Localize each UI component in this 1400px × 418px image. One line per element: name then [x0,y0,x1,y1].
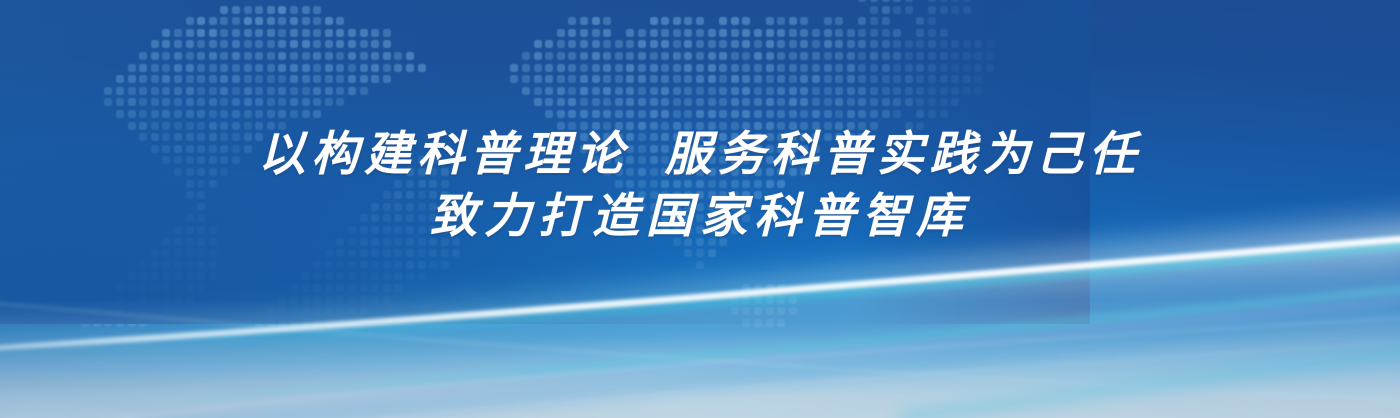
map-dot [603,168,611,176]
map-dot [916,87,924,95]
map-dot [928,0,936,2]
map-dot [220,87,228,95]
map-dot [650,180,658,188]
map-dot [870,52,878,60]
map-dot [429,203,437,211]
map-dot [255,319,263,327]
map-dot [777,110,785,118]
map-dot [638,156,646,164]
map-dot [186,168,194,176]
map-dot [847,122,855,130]
map-dot [916,40,924,48]
map-dot [336,296,344,304]
map-dot [592,110,600,118]
map-dot [116,296,124,304]
map-dot [858,29,866,37]
map-dot [162,40,170,48]
map-dot [731,87,739,95]
map-dot [800,168,808,176]
map-dot [638,122,646,130]
map-dot [278,122,286,130]
map-dot [209,272,217,280]
map-dot [313,307,321,315]
map-dot [835,29,843,37]
map-dot [232,145,240,153]
map-dot [719,133,727,141]
map-dot [777,98,785,106]
map-dot [232,6,240,14]
map-dot [603,40,611,48]
map-dot [383,40,391,48]
map-dot [186,75,194,83]
map-dot [742,284,750,292]
map-dot [394,284,402,292]
map-dot [882,64,890,72]
map-dot [731,40,739,48]
map-dot [220,133,228,141]
map-dot [522,75,530,83]
map-dot [905,87,913,95]
map-dot [731,133,739,141]
map-dot [220,75,228,83]
map-dot [325,249,333,257]
map-dot [754,191,762,199]
map-dot [696,168,704,176]
map-dot [325,261,333,269]
map-dot [708,64,716,72]
map-dot [603,110,611,118]
map-dot [731,52,739,60]
map-dot [731,214,739,222]
map-dot [557,29,565,37]
map-dot [638,52,646,60]
map-dot [684,122,692,130]
map-dot [719,214,727,222]
map-dot [278,52,286,60]
map-dot [754,284,762,292]
map-dot [789,87,797,95]
map-dot [684,249,692,257]
map-dot [638,110,646,118]
map-dot [151,40,159,48]
map-dot [186,249,194,257]
map-dot [766,17,774,25]
map-dot [824,87,832,95]
map-dot [731,296,739,304]
map-dot [116,319,124,327]
map-dot [719,64,727,72]
map-dot [557,75,565,83]
map-dot [708,29,716,37]
map-dot [568,64,576,72]
map-dot [174,238,182,246]
map-dot [151,284,159,292]
map-dot [870,17,878,25]
map-dot [974,64,982,72]
map-dot [162,145,170,153]
map-dot [406,180,414,188]
map-dot [789,40,797,48]
map-dot [673,214,681,222]
map-dot [742,296,750,304]
map-dot [661,87,669,95]
map-dot [893,110,901,118]
map-dot [673,40,681,48]
map-dot [766,75,774,83]
map-dot [661,191,669,199]
map-dot [394,191,402,199]
map-dot [197,122,205,130]
map-dot [186,98,194,106]
map-dot [835,87,843,95]
map-dot [104,307,112,315]
map-dot [325,307,333,315]
map-dot [128,64,136,72]
map-dot [731,191,739,199]
map-dot [580,145,588,153]
map-dot [313,6,321,14]
map-dot [255,133,263,141]
map-dot [267,110,275,118]
map-dot [905,52,913,60]
map-dot [684,180,692,188]
map-dot [766,284,774,292]
map-dot [278,87,286,95]
map-dot [186,52,194,60]
map-dot [197,191,205,199]
map-dot [754,156,762,164]
map-dot [673,29,681,37]
map-dot [615,133,623,141]
map-dot [661,180,669,188]
map-dot [545,98,553,106]
map-dot [905,40,913,48]
map-dot [800,64,808,72]
map-dot [360,307,368,315]
map-dot [336,29,344,37]
map-dot [928,6,936,14]
map-dot [348,272,356,280]
map-dot [360,214,368,222]
map-dot [673,168,681,176]
map-dot [139,122,147,130]
map-dot [209,64,217,72]
map-dot [348,226,356,234]
map-dot [313,40,321,48]
map-dot [290,98,298,106]
map-dot [580,52,588,60]
map-dot [116,284,124,292]
map-dot [371,40,379,48]
map-dot [290,296,298,304]
map-dot [174,261,182,269]
map-dot [719,110,727,118]
map-dot [197,226,205,234]
map-dot [615,168,623,176]
map-dot [186,261,194,269]
map-dot [186,272,194,280]
map-dot [151,249,159,257]
map-dot [186,180,194,188]
map-dot [255,64,263,72]
map-dot [696,180,704,188]
arc-halo [0,236,1400,418]
map-dot [139,110,147,118]
map-dot [708,156,716,164]
map-dot [162,75,170,83]
map-dot [731,98,739,106]
map-dot [128,319,136,327]
map-dot [557,122,565,130]
map-dot [267,64,275,72]
corner-cyan-band [900,348,1400,418]
map-dot [940,40,948,48]
cross-arc-1 [0,300,1400,402]
map-dot [151,110,159,118]
map-dot [974,87,982,95]
secondary-arc-2 [0,296,1400,418]
map-dot [580,17,588,25]
map-dot [777,64,785,72]
map-dot [708,238,716,246]
map-dot [580,64,588,72]
map-dot [313,110,321,118]
map-dot [255,6,263,14]
map-dot [186,284,194,292]
map-dot [893,40,901,48]
map-dot [232,52,240,60]
map-dot [406,191,414,199]
map-dot [255,52,263,60]
map-dot [162,98,170,106]
map-dot [626,98,634,106]
map-dot [916,29,924,37]
map-dot [951,64,959,72]
map-dot [186,238,194,246]
map-dot [847,87,855,95]
map-dot [789,156,797,164]
map-dot [800,156,808,164]
map-dot [812,122,820,130]
map-dot [673,133,681,141]
map-dot [928,75,936,83]
map-dot [220,122,228,130]
map-dot [766,133,774,141]
map-dot [545,64,553,72]
map-dot [719,75,727,83]
map-dot [104,87,112,95]
map-dot [708,168,716,176]
map-dot [858,64,866,72]
world-map-fade-mask [0,0,1090,324]
map-dot [568,40,576,48]
map-dot [429,156,437,164]
map-dot [128,75,136,83]
map-dot [278,307,286,315]
map-dot [916,17,924,25]
map-dot [731,17,739,25]
map-dot [394,64,402,72]
map-dot [197,98,205,106]
map-dot [928,40,936,48]
map-dot [719,203,727,211]
map-dot [290,284,298,292]
map-dot [603,156,611,164]
map-dot [534,98,542,106]
map-dot [383,272,391,280]
map-dot [232,75,240,83]
map-dot [789,64,797,72]
map-dot [186,17,194,25]
map-dot [290,6,298,14]
map-dot [615,64,623,72]
map-dot [290,29,298,37]
map-dot [986,64,994,72]
map-dot [858,75,866,83]
map-dot [626,191,634,199]
map-dot [232,87,240,95]
map-dot [626,156,634,164]
map-dot [708,214,716,222]
map-dot [742,64,750,72]
map-dot [650,17,658,25]
map-dot [267,307,275,315]
map-dot [418,180,426,188]
map-dot [882,110,890,118]
map-dot [916,75,924,83]
map-dot [568,17,576,25]
map-dot [406,238,414,246]
map-dot [858,98,866,106]
map-dot [139,52,147,60]
map-dot [418,214,426,222]
map-dot [418,203,426,211]
map-dot [650,40,658,48]
map-dot [626,122,634,130]
map-dot [197,17,205,25]
map-dot [650,110,658,118]
map-dot [557,98,565,106]
map-dot [684,40,692,48]
map-dot [684,145,692,153]
map-dot [220,168,228,176]
map-dot [742,203,750,211]
map-dot [394,238,402,246]
map-dot [812,145,820,153]
map-dot [916,52,924,60]
map-dot [232,40,240,48]
map-dot [940,29,948,37]
map-dot [360,40,368,48]
map-dot [731,64,739,72]
map-dot [719,145,727,153]
map-dot [383,29,391,37]
map-dot [418,156,426,164]
map-dot [835,110,843,118]
map-dot [777,145,785,153]
map-dot [638,133,646,141]
map-dot [615,87,623,95]
map-dot [209,156,217,164]
map-dot [638,180,646,188]
map-dot [696,133,704,141]
map-dot [812,110,820,118]
map-dot [151,122,159,130]
map-dot [290,87,298,95]
map-dot [870,110,878,118]
map-dot [209,122,217,130]
map-dot [267,75,275,83]
map-dot [893,75,901,83]
map-dot [789,133,797,141]
map-dot [963,75,971,83]
map-dot [708,122,716,130]
map-dot [360,29,368,37]
map-dot [429,238,437,246]
map-dot [847,110,855,118]
map-dot [882,29,890,37]
map-dot [557,40,565,48]
map-dot [928,98,936,106]
map-dot [603,64,611,72]
banner-headline: 以构建科普理论 服务科普实践为己任 致力打造国家科普智库 [0,124,1400,248]
map-dot [754,319,762,327]
map-dot [336,249,344,257]
map-dot [766,87,774,95]
map-dot [812,98,820,106]
map-dot [139,284,147,292]
map-dot [742,87,750,95]
map-dot [174,64,182,72]
map-dot [197,238,205,246]
map-dot [232,98,240,106]
map-dot [777,29,785,37]
map-dot [290,110,298,118]
map-dot [766,64,774,72]
map-dot [951,52,959,60]
map-dot [510,64,518,72]
map-dot [313,98,321,106]
map-dot [824,98,832,106]
world-map-dot-pattern [0,0,1090,324]
headline-line-1: 以构建科普理论 服务科普实践为己任 [0,124,1400,186]
map-dot [789,168,797,176]
map-dot [220,64,228,72]
map-dot [800,98,808,106]
map-dot [615,98,623,106]
map-dot [290,75,298,83]
map-dot [81,319,89,327]
map-dot [151,64,159,72]
map-dot [441,249,449,257]
map-dot [766,145,774,153]
map-dot [789,17,797,25]
map-dot [696,203,704,211]
map-dot [800,17,808,25]
map-dot [742,307,750,315]
map-dot [371,296,379,304]
map-dot [696,261,704,269]
map-dot [789,29,797,37]
map-dot [162,87,170,95]
map-dot [882,75,890,83]
map-dot [162,110,170,118]
map-dot [731,180,739,188]
map-dot [360,64,368,72]
map-dot [302,98,310,106]
map-dot [708,87,716,95]
map-dot [754,133,762,141]
